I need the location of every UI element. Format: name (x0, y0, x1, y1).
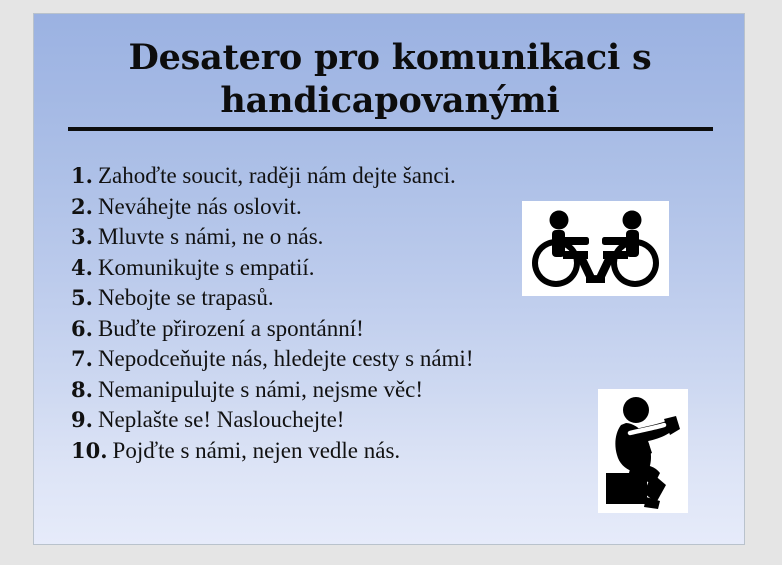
list-item: 2.Neváhejte nás oslovit. (71, 192, 591, 223)
list-item-text: Mluvte s námi, ne o nás. (98, 224, 324, 249)
list-item-text: Neplašte se! Naslouchejte! (98, 407, 345, 432)
list-item: 5.Nebojte se trapasů. (71, 283, 591, 314)
list-item-text: Pojďte s námi, nejen vedle nás. (113, 438, 401, 463)
list-item-text: Nepodceňujte nás, hledejte cesty s námi! (98, 346, 474, 371)
list-item-text: Buďte přirození a spontánní! (98, 316, 364, 341)
list-item: 3.Mluvte s námi, ne o nás. (71, 222, 591, 253)
list-item: 10.Pojďte s námi, nejen vedle nás. (71, 436, 591, 467)
list-item: 6.Buďte přirození a spontánní! (71, 314, 591, 345)
sign-language-pictogram-image (598, 389, 688, 513)
list-item-number: 6. (71, 316, 93, 341)
list-item-number: 2. (71, 194, 93, 219)
list-item: 4.Komunikujte s empatií. (71, 253, 591, 284)
slide: Desatero pro komunikaci s handicapovaným… (33, 13, 745, 545)
list-item: 9.Neplašte se! Naslouchejte! (71, 405, 591, 436)
slide-title-line-2: handicapovanými (34, 79, 745, 122)
presentation-canvas: Desatero pro komunikaci s handicapovaným… (0, 0, 782, 565)
slide-title-line-1: Desatero pro komunikaci s (34, 36, 745, 79)
list-item: 7.Nepodceňujte nás, hledejte cesty s nám… (71, 344, 591, 375)
list-item-number: 3. (71, 224, 93, 249)
wheelchair-icon-mirrored (586, 211, 659, 288)
list-item-number: 4. (71, 255, 93, 280)
list-item-number: 10. (71, 438, 108, 463)
list-item-number: 9. (71, 407, 93, 432)
list-item-text: Nemanipulujte s námi, nejsme věc! (98, 377, 423, 402)
points-list: 1.Zahoďte soucit, raději nám dejte šanci… (71, 161, 591, 466)
title-underline-rule (68, 127, 713, 131)
seated-person-signing-icon (606, 397, 680, 509)
list-item-number: 5. (71, 285, 93, 310)
seated-person-signing-svg (598, 389, 688, 513)
list-item-text: Nebojte se trapasů. (98, 285, 274, 310)
list-item-text: Zahoďte soucit, raději nám dejte šanci. (98, 163, 456, 188)
list-item: 8.Nemanipulujte s námi, nejsme věc! (71, 375, 591, 406)
list-item: 1.Zahoďte soucit, raději nám dejte šanci… (71, 161, 591, 192)
slide-title: Desatero pro komunikaci s handicapovaným… (34, 36, 745, 122)
wheelchair-pictogram-svg (522, 201, 669, 296)
list-item-number: 7. (71, 346, 93, 371)
list-item-text: Komunikujte s empatií. (98, 255, 315, 280)
list-item-number: 8. (71, 377, 93, 402)
list-item-text: Neváhejte nás oslovit. (98, 194, 302, 219)
list-item-number: 1. (71, 163, 93, 188)
wheelchair-pictogram-image (522, 201, 669, 296)
